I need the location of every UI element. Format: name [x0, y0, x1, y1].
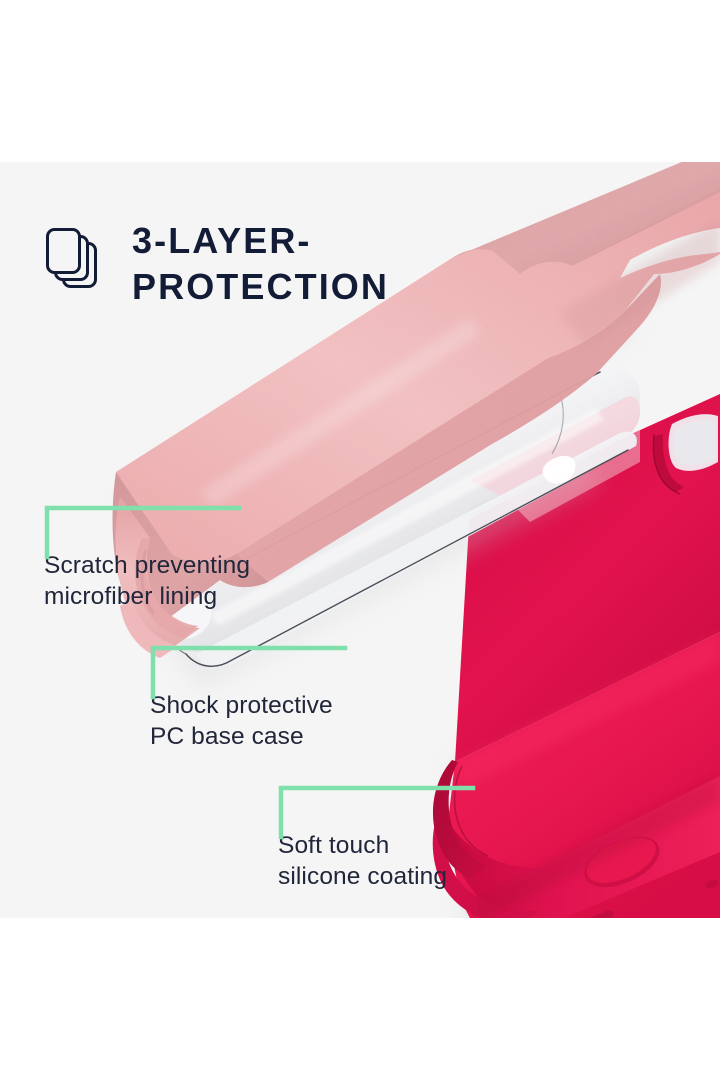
stacked-layers-icon — [44, 224, 106, 298]
leader-line-2 — [150, 640, 350, 700]
page-title: 3-LAYER-PROTECTION — [132, 218, 389, 309]
infographic-panel: 3-LAYER-PROTECTION Scratch preventing mi… — [0, 162, 720, 918]
callout-shock-protective-pc-base-case: Shock protective PC base case — [150, 640, 480, 753]
leader-line-1 — [44, 500, 244, 560]
leader-line-3 — [278, 780, 478, 840]
callout-scratch-preventing-microfiber-lining: Scratch preventing microfiber lining — [44, 500, 374, 613]
page-title-line-2: PROTECTION — [132, 264, 389, 310]
header-block: 3-LAYER-PROTECTION — [44, 218, 389, 309]
callout-soft-touch-silicone-coating: Soft touch silicone coating — [278, 780, 608, 893]
infographic-canvas: 3-LAYER-PROTECTION Scratch preventing mi… — [0, 0, 720, 1080]
page-title-line-1: 3-LAYER- — [132, 220, 312, 261]
